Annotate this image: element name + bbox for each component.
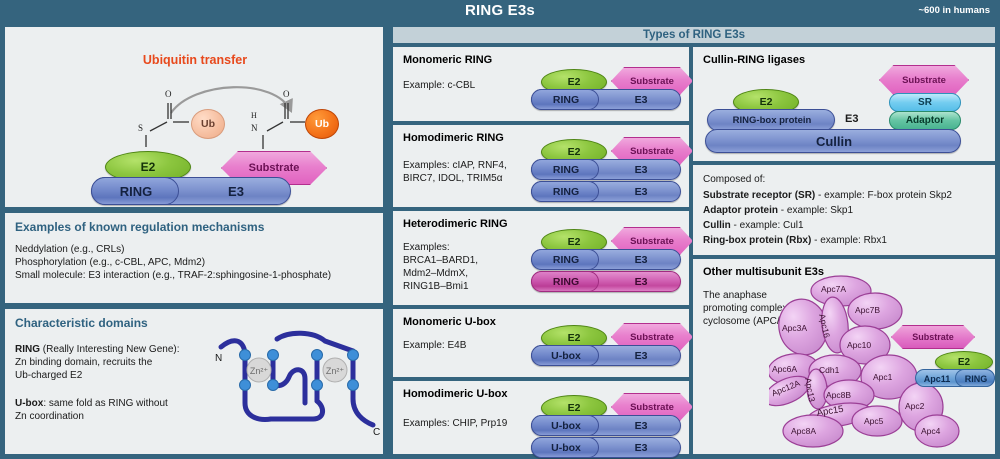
sr-example: - example: F-box protein Skp2 [815,190,952,201]
substrate-shape: Substrate [891,325,975,349]
apc-subunit-label: Cdh1 [819,365,839,375]
apc-subunit-label: Apc6A [772,364,797,374]
cullin-bar: Cullin [705,129,961,153]
ring-label: RING [532,90,600,111]
rbx-example: - example: Rbx1 [811,235,887,246]
e3-label: E3 [845,113,858,126]
apc-subunit-label: Apc2 [905,401,924,411]
ring-e3-bar: RING E3 [531,249,681,270]
heterodimeric-ring-panel: Heterodimeric RING Examples: BRCA1–BARD1… [392,210,690,306]
rbx-term: Ring-box protein (Rbx) [703,235,811,246]
e3-label: E3 [600,250,682,271]
e3-label: E3 [600,182,682,203]
apc11-ring-bar: Apc11 RING [915,369,995,387]
e3-label: E3 [600,160,682,181]
ring-desc-line3: Ub-charged E2 [15,369,82,382]
monomeric-ring-example: Example: c-CBL [403,79,475,92]
homodimeric-ubox-example: Examples: CHIP, Prp19 [403,417,507,430]
ubox-e3-bar: U-box E3 [531,345,681,366]
monomeric-ubox-example: Example: E4B [403,339,466,352]
cullin-example: - example: Cul1 [731,220,804,231]
ubox-term-rest: : same fold as RING without [43,398,168,409]
composed-of-intro: Composed of: [703,173,765,186]
page-title: RING E3s [0,2,1000,19]
crl-composition-panel: Composed of: Substrate receptor (SR) - e… [692,164,996,256]
ubox-label: U-box [532,416,600,437]
apc-caption-line-1: The anaphase [703,289,767,302]
apc-subunit-label: Apc7A [821,284,846,294]
e3-label: E3 [600,416,682,437]
cullin-label: Cullin [706,130,962,154]
c-terminus-label: C [373,427,380,438]
ring-e3-bar: RING E3 [531,159,681,180]
human-count-label: ~600 in humans [918,5,990,16]
ring-e3-bar: RING E3 [531,181,681,202]
zinc-finger-diagram: Zn²⁺ Zn²⁺ N C [213,329,381,445]
ubiquitin-transfer-panel: Ubiquitin transfer S O Ub [4,26,384,208]
ub-pale-badge: Ub [191,109,225,139]
e3-label: E3 [180,178,292,206]
e3-label: E3 [600,438,682,459]
monomeric-ring-title: Monomeric RING [403,54,492,66]
apc-subunit-label: Apc7B [855,305,880,315]
svg-text:Zn²⁺: Zn²⁺ [326,366,345,376]
apc-subunit-label: Apc8A [791,426,816,436]
substrate-shape: Substrate [879,65,969,95]
adaptor-example: - example: Skp1 [778,205,853,216]
homodimeric-ring-example-2: BIRC7, IDOL, TRIM5α [403,172,503,185]
apc11-label: Apc11 [916,370,958,388]
ring-label: RING [532,160,600,181]
ring-label: RING [956,370,996,388]
ubox-label: U-box [532,346,600,367]
apc-subunit-label: Apc5 [864,416,883,426]
regulation-line-3: Small molecule: E3 interaction (e.g., TR… [15,269,331,282]
regulation-title: Examples of known regulation mechanisms [15,220,264,234]
homodimeric-ubox-title: Homodimeric U-box [403,388,508,400]
ring-e3-bar: RING E3 [91,177,291,205]
apc-complex-diagram: Apc7A Apc7B Apc16 Apc3A Apc10 Apc6A Cdh1… [769,273,995,453]
ring-box-protein-pill: RING-box protein [707,109,835,131]
characteristic-domains-panel: Characteristic domains RING (Really Inte… [4,308,384,455]
homodimeric-ring-panel: Homodimeric RING Examples: cIAP, RNF4, B… [392,124,690,208]
e3-label: E3 [600,272,682,293]
regulation-panel: Examples of known regulation mechanisms … [4,212,384,304]
ring-desc-line2: Zn binding domain, recruits the [15,356,152,369]
ubox-e3-bar: U-box E3 [531,437,681,458]
apc-subunit-label: Apc10 [847,340,871,350]
monomeric-ring-panel: Monomeric RING Example: c-CBL E2 Substra… [392,46,690,122]
apc-subunit-label: Apc3A [782,323,807,333]
regulation-line-2: Phosphorylation (e.g., c-CBL, APC, Mdm2) [15,256,205,269]
ring-label: RING [92,178,180,206]
apc-subunit-label: Apc4 [921,426,940,436]
ring-label: RING [532,250,600,271]
types-of-ring-e3s-band: Types of RING E3s [392,26,996,44]
sulfur-atom-label: S [138,123,143,133]
ring-term-rest: (Really Interesting New Gene): [40,344,180,355]
n-terminus-label: N [215,353,222,364]
homodimeric-ring-title: Homodimeric RING [403,132,504,144]
cullin-ring-ligases-title: Cullin-RING ligases [703,54,805,66]
svg-text:Zn²⁺: Zn²⁺ [250,366,269,376]
apc-subunit-label: Apc8B [826,390,851,400]
adaptor-pill: Adaptor [889,111,961,130]
substrate-receptor-pill: SR [889,93,961,112]
cullin-ring-ligases-panel: Cullin-RING ligases Substrate SR Adaptor… [692,46,996,162]
ring-label: RING [532,182,600,203]
thioester-bond-icon [123,87,243,157]
ub-dark-badge: Ub [305,109,339,139]
hydrogen-atom-label: H [251,111,257,120]
amide-bond-icon [241,87,361,157]
ubox-label: U-box [532,438,600,459]
ring-label: RING [532,272,600,293]
sr-term: Substrate receptor (SR) [703,190,815,201]
heterodimeric-ring-title: Heterodimeric RING [403,218,508,230]
heterodimeric-ring-example-4: RING1B–Bmi1 [403,280,469,293]
homodimeric-ring-example-1: Examples: cIAP, RNF4, [403,159,507,172]
ubox-term: U-box [15,398,43,409]
characteristic-domains-title: Characteristic domains [15,316,148,330]
nitrogen-atom-label: N [251,123,258,133]
e3-label: E3 [600,90,682,111]
homodimeric-ubox-panel: Homodimeric U-box Examples: CHIP, Prp19 … [392,380,690,455]
oxygen-atom-right-label: O [283,89,290,99]
monomeric-ubox-panel: Monomeric U-box Example: E4B E2 Substrat… [392,308,690,378]
ubox-desc-line2: Zn coordination [15,410,84,423]
apc-subunit-label: Apc1 [873,372,892,382]
heterodimeric-ring-example-1: Examples: [403,241,450,254]
monomeric-ubox-title: Monomeric U-box [403,316,496,328]
e3-label: E3 [600,346,682,367]
other-multisubunit-e3s-panel: Other multisubunit E3s The anaphase prom… [692,258,996,455]
ubox-e3-bar: U-box E3 [531,415,681,436]
poster-root: RING E3s ~600 in humans Ubiquitin transf… [0,0,1000,459]
ring-e3-bar-partner: RING E3 [531,271,681,292]
adaptor-term: Adaptor protein [703,205,778,216]
oxygen-atom-left-label: O [165,89,172,99]
heterodimeric-ring-example-2: BRCA1–BARD1, [403,254,478,267]
ubiquitin-transfer-title: Ubiquitin transfer [5,53,385,67]
title-bar: RING E3s ~600 in humans [0,0,1000,22]
heterodimeric-ring-example-3: Mdm2–MdmX, [403,267,468,280]
ring-term: RING [15,344,40,355]
ring-e3-bar: RING E3 [531,89,681,110]
cullin-term: Cullin [703,220,731,231]
regulation-line-1: Neddylation (e.g., CRLs) [15,243,125,256]
